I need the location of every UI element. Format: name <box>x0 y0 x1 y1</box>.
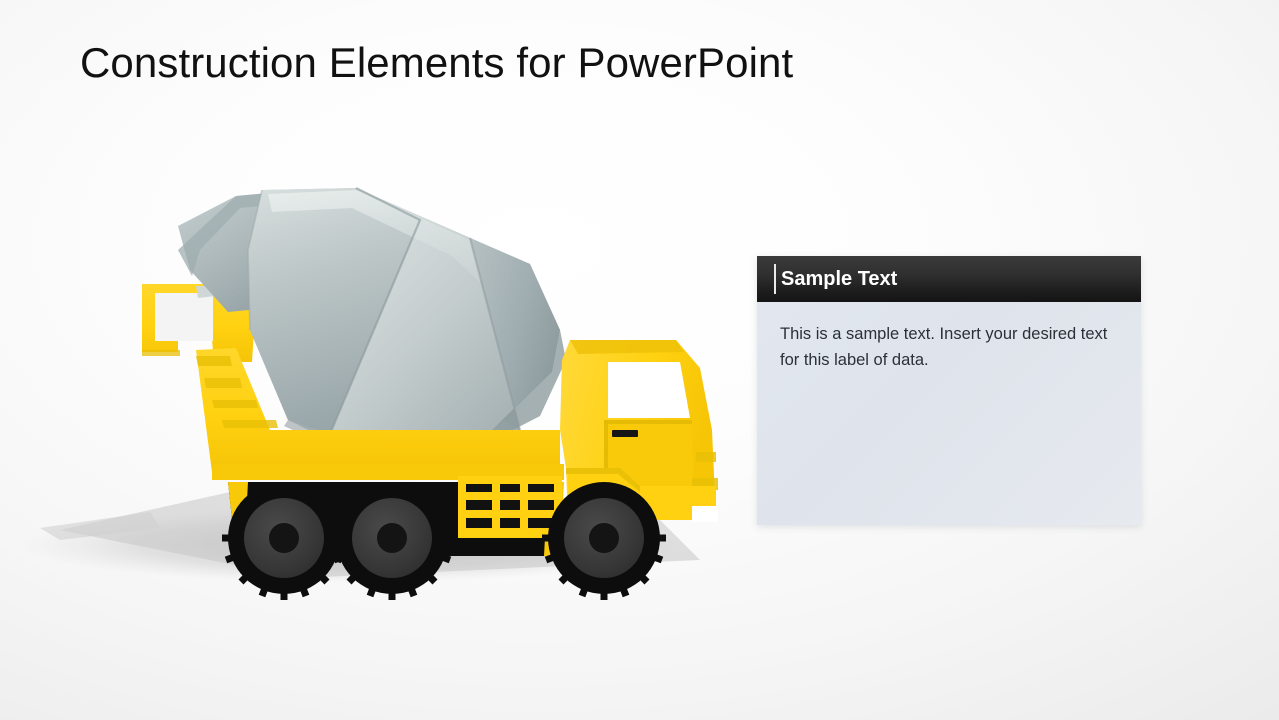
sample-text-callout[interactable]: Sample Text This is a sample text. Inser… <box>757 256 1141 525</box>
slide-canvas: Construction Elements for PowerPoint <box>0 0 1279 720</box>
callout-header: Sample Text <box>757 256 1141 302</box>
cab-window <box>608 362 690 418</box>
callout-title: Sample Text <box>781 256 897 302</box>
grille-ladder <box>458 476 562 538</box>
callout-body-text: This is a sample text. Insert your desir… <box>780 322 1110 373</box>
callout-body: This is a sample text. Insert your desir… <box>757 302 1141 525</box>
door-handle <box>612 430 638 437</box>
callout-header-accent-rule <box>774 264 776 294</box>
